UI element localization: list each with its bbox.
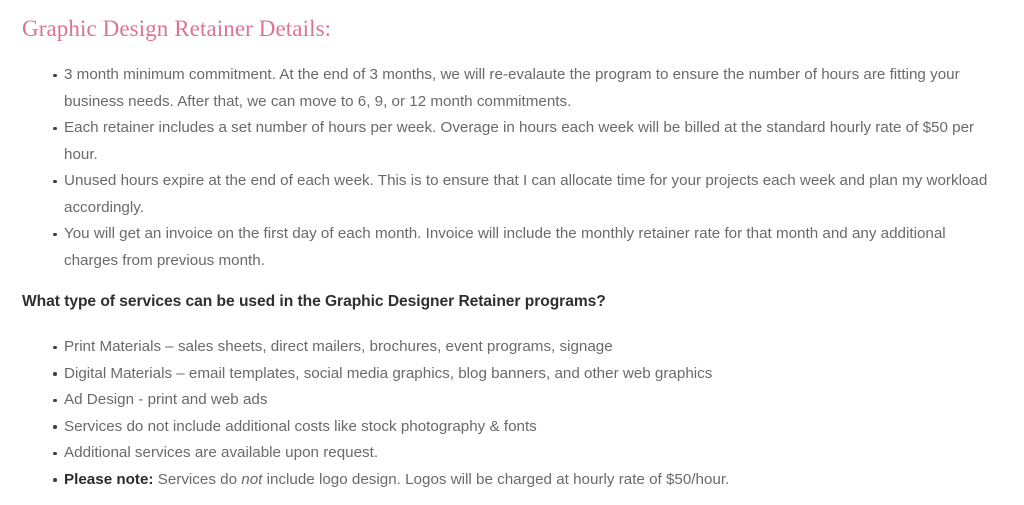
list-item: Additional services are available upon r… [22, 440, 994, 467]
list-item: 3 month minimum commitment. At the end o… [22, 62, 994, 115]
list-item-please-note: Please note: Services do not include log… [22, 467, 994, 494]
note-emphasis: not [241, 471, 262, 488]
list-item: Services do not include additional costs… [22, 414, 994, 441]
list-item: Ad Design - print and web ads [22, 387, 994, 414]
services-list: Print Materials – sales sheets, direct m… [22, 334, 994, 493]
list-item: Unused hours expire at the end of each w… [22, 168, 994, 221]
note-text-after: include logo design. Logos will be charg… [262, 471, 729, 488]
retainer-details-list: 3 month minimum commitment. At the end o… [22, 62, 994, 274]
document-page: Graphic Design Retainer Details: 3 month… [0, 0, 1024, 505]
please-note-label: Please note: [64, 471, 153, 488]
note-text-before: Services do [153, 471, 241, 488]
page-title: Graphic Design Retainer Details: [22, 14, 994, 44]
list-item: You will get an invoice on the first day… [22, 221, 994, 274]
list-item: Digital Materials – email templates, soc… [22, 361, 994, 388]
services-question-heading: What type of services can be used in the… [22, 290, 994, 314]
list-item: Print Materials – sales sheets, direct m… [22, 334, 994, 361]
content-container: Graphic Design Retainer Details: 3 month… [0, 0, 1024, 493]
list-item: Each retainer includes a set number of h… [22, 115, 994, 168]
